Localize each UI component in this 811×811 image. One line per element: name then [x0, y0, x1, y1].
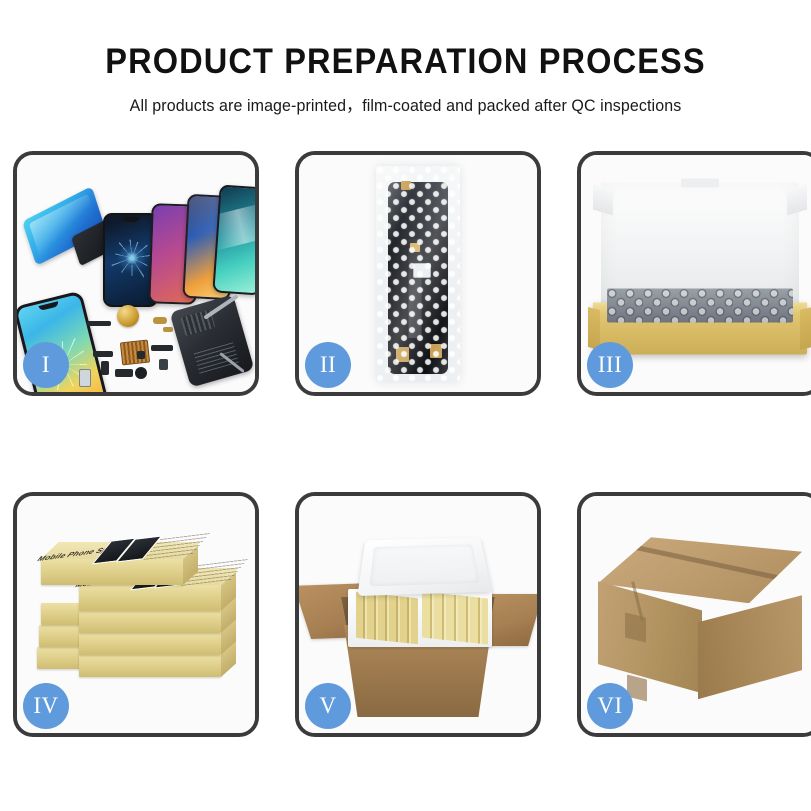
phone-back-housing-icon [170, 294, 255, 387]
part-flex-cable-icon [93, 351, 113, 357]
process-step-grid: I II [13, 151, 799, 737]
part-gold-small-icon [163, 327, 173, 332]
retail-box-labelled-top [41, 559, 183, 585]
part-connector-icon [87, 321, 111, 326]
part-sim-tray-icon [79, 369, 91, 387]
step-card-5[interactable]: V [295, 492, 541, 737]
lid-tab-icon [681, 178, 719, 187]
part-module-icon [115, 369, 133, 377]
step-badge-3: III [587, 342, 633, 388]
bubble-wrapped-screen-illustration [376, 166, 460, 382]
stacked-boxes-illustration: Mobile Phone Spare Parts Mobile Phone Sp… [33, 523, 239, 707]
step-badge-1: I [23, 342, 69, 388]
step-badge-5: V [305, 683, 351, 729]
retail-box-right-bottom-2 [79, 655, 221, 677]
step-card-2[interactable]: II [295, 151, 541, 396]
carton-right-face [698, 595, 802, 699]
retail-box-right-mid [79, 611, 221, 633]
gold-boxes-group-right [422, 592, 488, 645]
gold-boxes-group-left [356, 592, 418, 645]
page-subtitle: All products are image-printed，film-coat… [12, 92, 799, 116]
retail-box-right-bottom-1 [79, 633, 221, 655]
step-badge-2: II [305, 342, 351, 388]
box-left-flap-icon [588, 306, 600, 349]
plastic-sheen-overlay [376, 166, 460, 382]
bubble-wrapped-contents-icon [607, 288, 793, 322]
step-card-4[interactable]: Mobile Phone Spare Parts Mobile Phone Sp… [13, 492, 259, 737]
part-gold-flex-icon [153, 317, 167, 324]
part-button-icon [159, 359, 168, 370]
part-bracket-icon [101, 361, 109, 375]
part-camera-icon [135, 367, 147, 379]
page-title: PRODUCT PREPARATION PROCESS [28, 44, 782, 81]
foam-box-lid-icon [357, 537, 492, 596]
retail-box-labelled-front [79, 585, 221, 611]
foam-carton-illustration [318, 531, 518, 717]
step-badge-6: VI [587, 683, 633, 729]
step-card-6[interactable]: VI [577, 492, 811, 737]
box-right-flap-icon [800, 306, 811, 349]
part-screw-plate-icon [137, 351, 145, 359]
carton-tape-upper [625, 613, 646, 643]
header: PRODUCT PREPARATION PROCESS All products… [0, 0, 811, 116]
step-card-3[interactable]: III [577, 151, 811, 396]
open-box-illustration [593, 182, 807, 358]
sealed-carton-illustration [598, 537, 802, 701]
carton-left-face [598, 581, 702, 693]
part-ribbon-icon [151, 345, 173, 351]
phone-teal-icon [212, 184, 255, 295]
chip-ic-icon [120, 340, 150, 366]
speaker-module-icon [117, 305, 139, 327]
step-badge-4: IV [23, 683, 69, 729]
step-card-1[interactable]: I [13, 151, 259, 396]
